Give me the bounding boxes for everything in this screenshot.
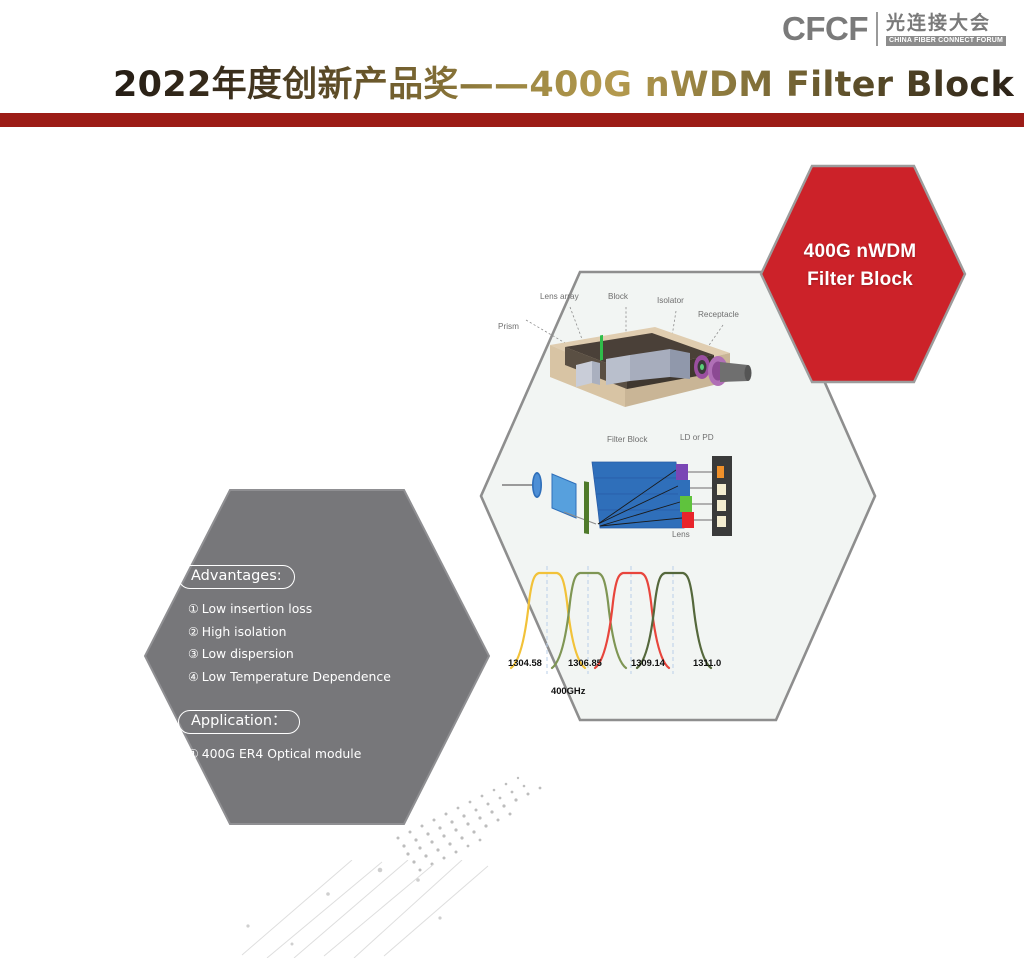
list-item: ①Low insertion loss [188, 598, 468, 621]
footer-bar: Auxora Color the World A COMPANY OF 天孚通信 [0, 858, 1024, 958]
label-isolator: Isolator [657, 296, 684, 305]
info-panel-content: Advantages: ①Low insertion loss ②High is… [178, 565, 468, 766]
advantages-list: ①Low insertion loss ②High isolation ③Low… [188, 598, 468, 688]
cfcf-brand-logo: CFCF 光连接大会 CHINA FIBER CONNECT FORUM [782, 6, 1006, 46]
bullet-number: ① [188, 602, 199, 616]
application-heading: Application： [178, 710, 300, 734]
label-filter-block: Filter Block [607, 435, 648, 444]
list-item: ③Low dispersion [188, 643, 468, 666]
label-ld-or-pd: LD or PD [680, 433, 714, 442]
label-block: Block [608, 292, 628, 301]
bullet-text: Low dispersion [202, 646, 294, 661]
chart-spacing-label: 400GHz [551, 685, 585, 696]
bullet-text: Low insertion loss [202, 601, 312, 616]
advantages-heading: Advantages: [178, 565, 295, 589]
badge-line-1: 400G nWDM [760, 238, 960, 266]
label-prism: Prism [498, 322, 519, 331]
chart-tick-4: 1311.0 [693, 657, 721, 668]
optical-path-schematic [500, 440, 760, 555]
slide-canvas: CFCF 光连接大会 CHINA FIBER CONNECT FORUM 202… [0, 0, 1024, 958]
cfcf-brand-chinese-block: 光连接大会 CHINA FIBER CONNECT FORUM [886, 13, 1006, 46]
bullet-number: ③ [188, 647, 199, 661]
footer-line-decoration [232, 860, 572, 958]
badge-line-2: Filter Block [760, 266, 960, 294]
label-lens-array: Lens array [540, 292, 579, 301]
bullet-number: ① [188, 747, 199, 761]
title-underline-bar [0, 113, 1024, 127]
page-title: 2022年度创新产品奖——400G nWDM Filter Block [113, 56, 1014, 107]
label-lens: Lens [672, 530, 690, 539]
product-badge-label: 400G nWDM Filter Block [760, 238, 960, 294]
cfcf-chinese-name: 光连接大会 [886, 13, 1006, 34]
brand-divider [876, 12, 878, 46]
bullet-text: Low Temperature Dependence [202, 669, 391, 684]
bullet-number: ② [188, 625, 199, 639]
label-receptacle: Receptacle [698, 310, 739, 319]
cfcf-wordmark: CFCF [782, 12, 868, 46]
panel-spacer [178, 688, 468, 710]
bullet-text: High isolation [202, 624, 287, 639]
cfcf-english-subtitle: CHINA FIBER CONNECT FORUM [886, 36, 1006, 46]
chart-tick-2: 1306.85 [568, 657, 602, 668]
list-item: ④Low Temperature Dependence [188, 666, 468, 689]
list-item: ②High isolation [188, 621, 468, 644]
chart-tick-3: 1309.14 [631, 657, 665, 668]
chart-tick-1: 1304.58 [508, 657, 542, 668]
bullet-text: 400G ER4 Optical module [202, 746, 362, 761]
bullet-number: ④ [188, 670, 199, 684]
